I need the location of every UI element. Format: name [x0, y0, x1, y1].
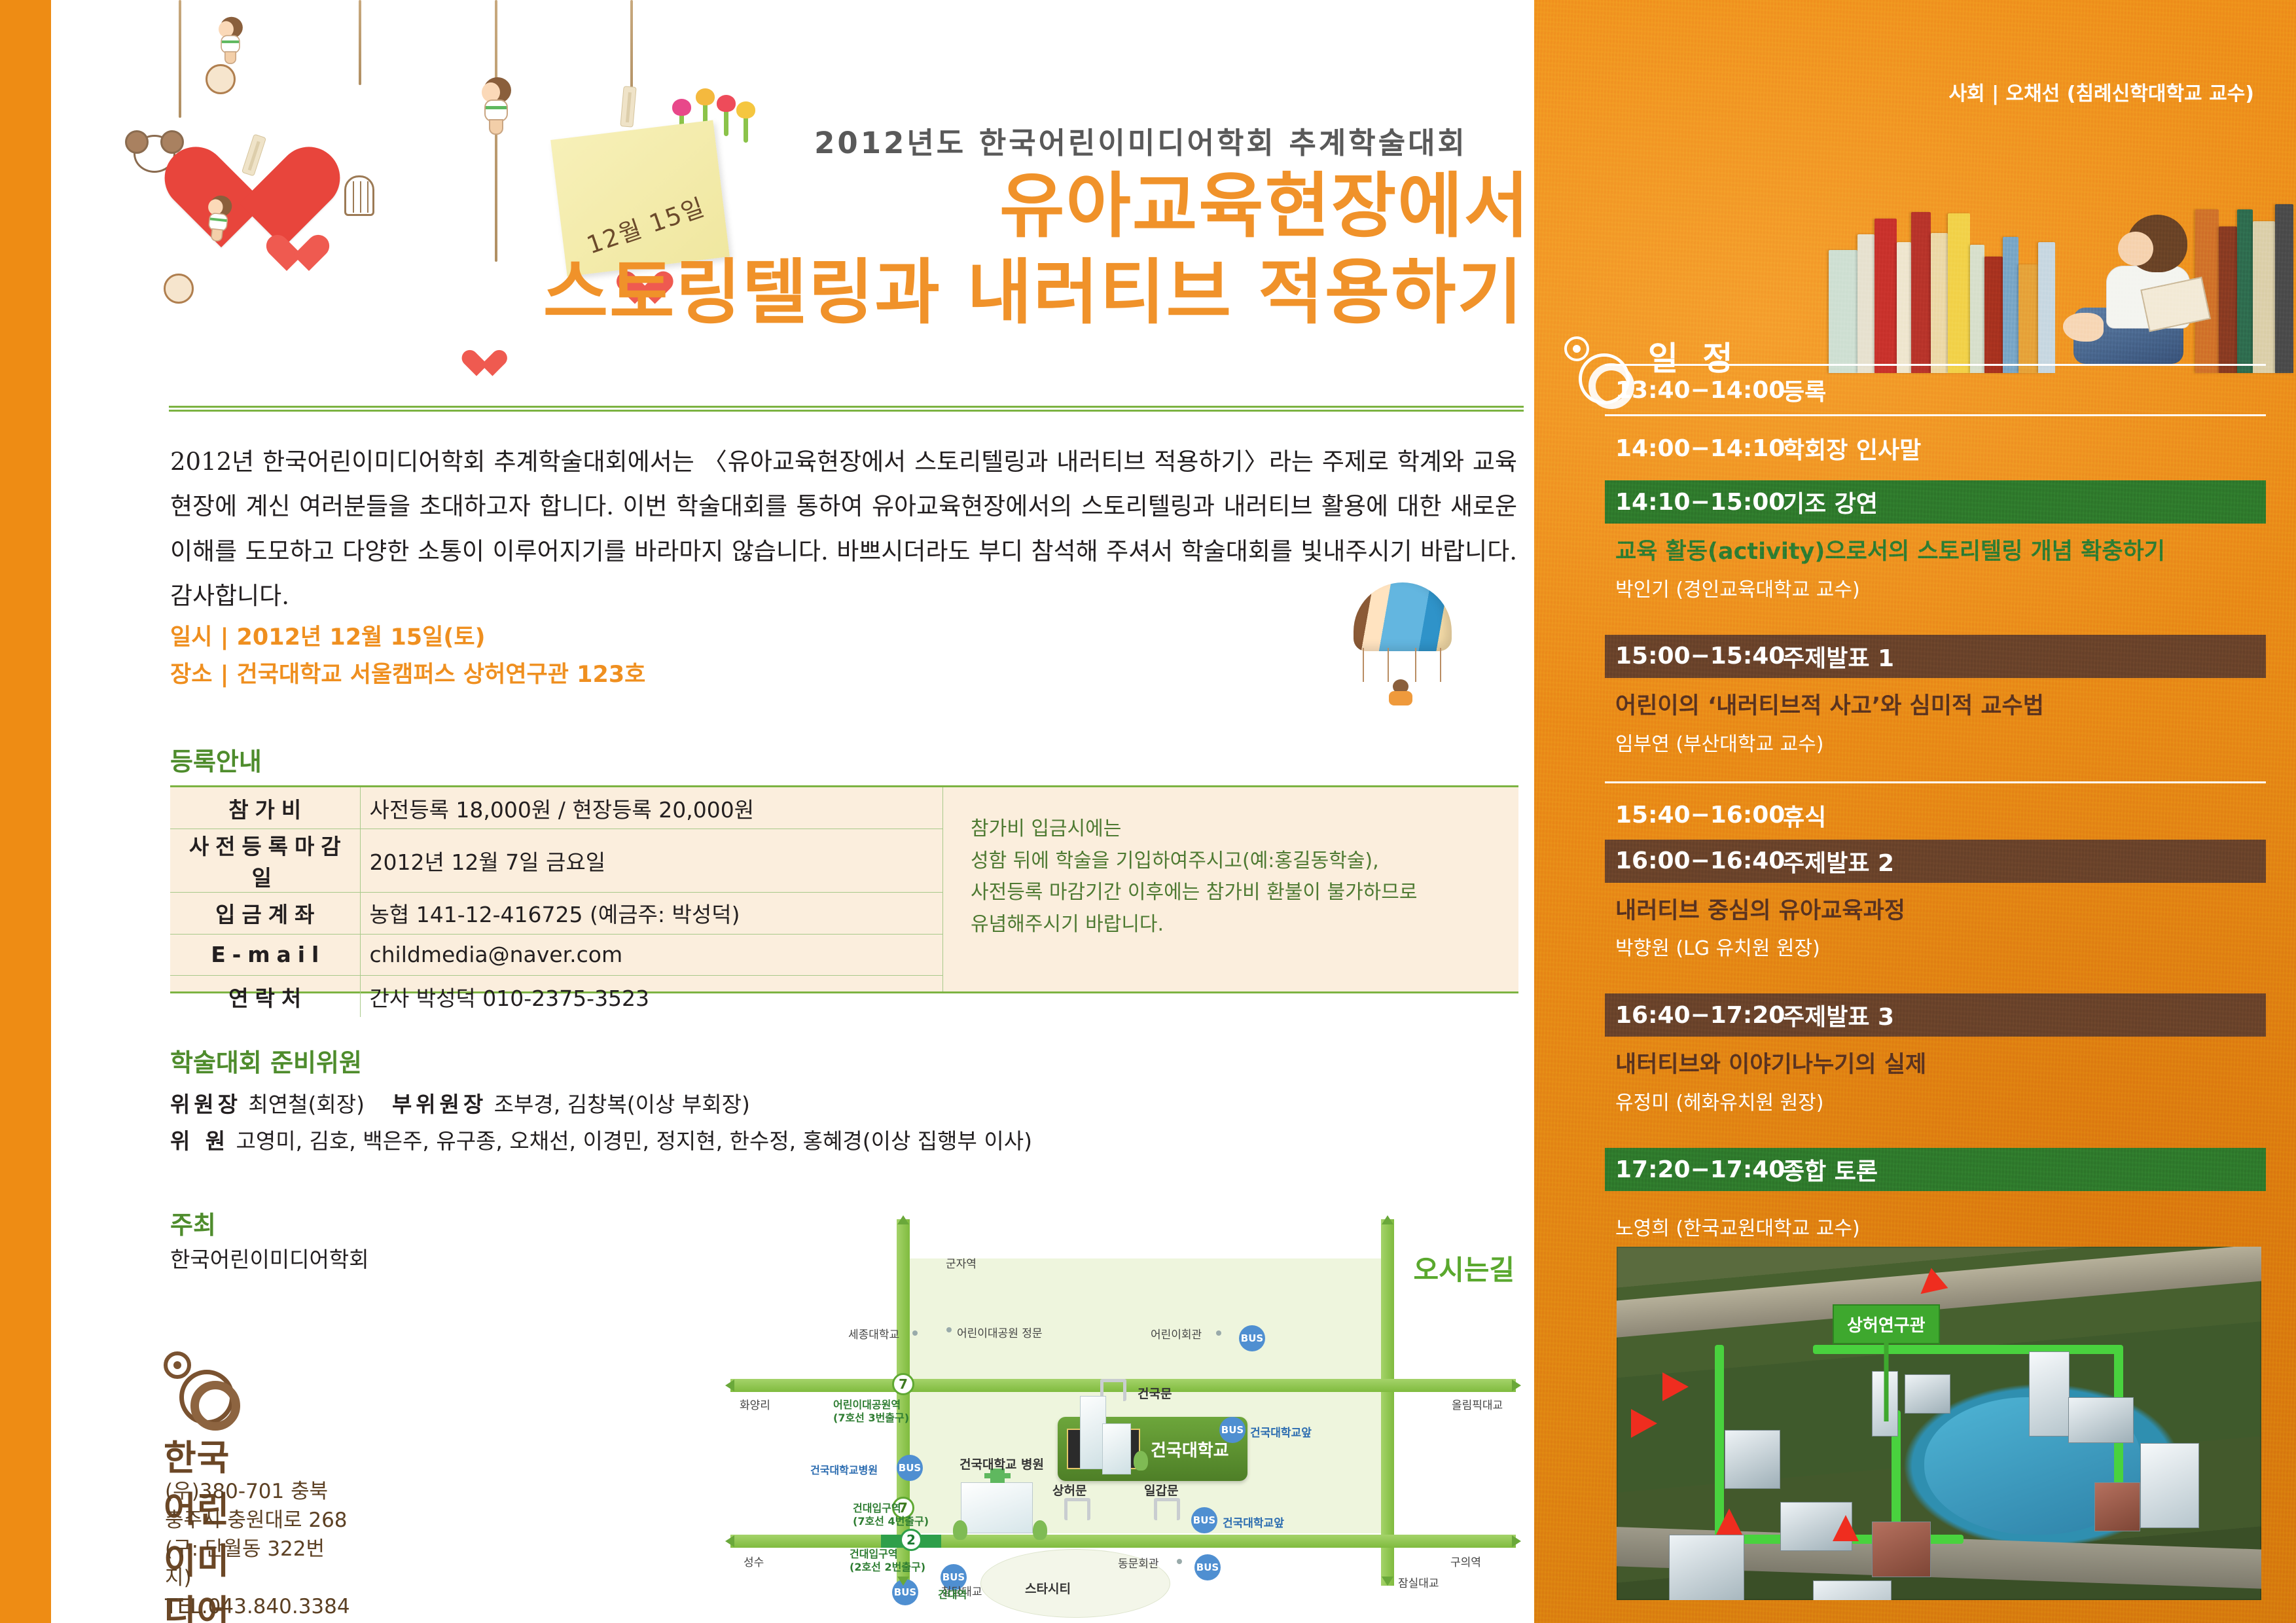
reg-val-fee: 사전등록 18,000원 / 현장등록 20,000원 — [360, 787, 942, 829]
road-arrow-left-top — [725, 1380, 734, 1391]
agenda-detail-speaker: 임부연 (부산대학교 교수) — [1615, 728, 2266, 757]
agenda-detail-title: 교육 활동(activity)으로서의 스토리텔링 개념 확충하기 — [1615, 538, 2266, 567]
agenda-name: 주제발표 3 — [1783, 998, 1894, 1032]
agenda-time: 14:00−14:10 — [1615, 435, 1783, 462]
map-label-kundae-station-7: 건대입구역 (7호선 4번출구) — [853, 1502, 929, 1528]
registration-heading: 등록안내 — [170, 741, 262, 777]
book-item — [1829, 250, 1857, 373]
map-label-ilgap-gate: 일갑문 — [1144, 1481, 1178, 1499]
map-label-kundae-station-2: 건대입구역 (2호선 2번출구) — [850, 1548, 925, 1574]
committee-chair-value: 최연철(회장) — [248, 1092, 365, 1117]
climbing-child-icon — [480, 77, 512, 134]
parachute-illustration — [1354, 582, 1452, 707]
agenda-detail-keynote: 교육 활동(activity)으로서의 스토리텔링 개념 확충하기 박인기 (경… — [1605, 524, 2266, 607]
directions-map: 오시는길 7 7 2 BUS BUS BUS BUS BUS BUS BUS — [719, 1207, 1530, 1600]
sangheo-gate-icon — [1064, 1498, 1090, 1520]
society-emblem-icon — [164, 1351, 242, 1423]
aerial-building-3 — [1725, 1430, 1780, 1489]
map-label-guui-station: 구의역 — [1450, 1553, 1481, 1569]
bus-marker-ku-front-bottom: BUS — [1191, 1507, 1217, 1533]
agenda-detail-speaker: 노영희 (한국교원대학교 교수) — [1615, 1212, 2266, 1241]
registration-table-wrapper: 참가비 사전등록 18,000원 / 현장등록 20,000원 사전등록마감일 … — [170, 785, 1518, 993]
main-title-line-2: 스토링텔링과 내러티브 적용하기 — [300, 250, 1530, 336]
map-dot-childpark-gate — [946, 1327, 952, 1332]
book-item — [1984, 257, 2003, 373]
agenda-row-session-2: 16:00−16:40 주제발표 2 — [1605, 840, 2266, 883]
society-tel: TEL.043.840.3384 — [165, 1592, 350, 1621]
book-item — [1874, 219, 1897, 373]
ornament-ball-2 — [206, 64, 236, 94]
map-label-sangheo-gate: 상허문 — [1052, 1481, 1086, 1499]
book-item — [2018, 264, 2038, 373]
road-horizontal-bottom — [730, 1535, 1516, 1548]
aerial-building-2 — [2029, 1351, 2070, 1436]
conference-subtitle: 2012년도 한국어린이미디어학회 추계학술대회 — [755, 119, 1527, 162]
host-heading: 주최 — [170, 1205, 216, 1241]
table-row: 사전등록마감일 2012년 12월 7일 금요일 — [170, 829, 942, 893]
left-accent-strip — [0, 0, 51, 1623]
agenda-emblem-icon — [1564, 336, 1638, 404]
committee-chair-row: 위원장 최연철(회장) 부위원장 조부경, 김창복(이상 부회장) — [170, 1086, 1414, 1123]
agenda-time: 16:00−16:40 — [1615, 847, 1783, 874]
book-item — [1970, 245, 1984, 373]
agenda-name: 종합 토론 — [1783, 1152, 1878, 1186]
map-label-childhall: 어린이회관 — [1151, 1325, 1202, 1342]
ornament-ball-1 — [164, 274, 194, 304]
bus-marker-childhall: BUS — [1239, 1325, 1265, 1351]
agenda-detail-speaker: 박향원 (LG 유치원 원장) — [1615, 932, 2266, 961]
map-label-starcity: 스타시티 — [1025, 1579, 1071, 1597]
aerial-direction-arrow-3 — [1716, 1508, 1742, 1535]
book-item — [2003, 237, 2018, 373]
ilgap-gate-icon — [1154, 1498, 1180, 1520]
reading-child-photo — [2067, 209, 2217, 373]
agenda-time: 15:00−15:40 — [1615, 643, 1783, 669]
aerial-direction-arrow-4 — [1833, 1515, 1859, 1541]
agenda-detail-session-1: 어린이의 ‘내러티브적 사고’와 심미적 교수법 임부연 (부산대학교 교수) — [1605, 678, 2266, 762]
agenda-detail-speaker: 박인기 (경인교육대학교 교수) — [1615, 573, 2266, 602]
reg-key-account: 입금계좌 — [170, 893, 360, 935]
map-dot-childhall — [1216, 1330, 1221, 1336]
bus-marker-hospital: BUS — [897, 1455, 923, 1481]
swinging-child-icon — [217, 17, 243, 63]
aerial-building-label: 상허연구관 — [1833, 1304, 1940, 1344]
aerial-building-4 — [1669, 1535, 1744, 1600]
agenda-row-session-1: 15:00−15:40 주제발표 1 — [1605, 635, 2266, 678]
map-label-hwayangri: 화양리 — [740, 1396, 770, 1412]
book-item — [2275, 204, 2293, 373]
book-item — [2253, 221, 2275, 373]
society-contact: (우)380-701 충북 충주시 충원대로 268 (구: 단월동 322번지… — [165, 1477, 350, 1621]
tree-icon-1 — [1134, 1451, 1148, 1471]
aerial-direction-arrow-2 — [1631, 1409, 1657, 1438]
map-dot-dongmun — [1177, 1559, 1182, 1564]
society-logo-block: 한국어린이미디어학회 (우)380-701 충북 충주시 충원대로 268 (구… — [164, 1351, 242, 1423]
aerial-building-10 — [2068, 1397, 2134, 1443]
book-item — [1948, 213, 1970, 373]
book-item — [1931, 233, 1948, 373]
road-arrow-up-right — [1382, 1215, 1393, 1224]
table-row: 입금계좌 농협 141-12-416725 (예금주: 박성덕) — [170, 893, 942, 935]
agenda-detail-title: 내러티브 중심의 유아교육과정 — [1615, 897, 2266, 926]
tree-icon-3 — [1033, 1520, 1047, 1540]
campus-building-2 — [1102, 1423, 1131, 1474]
map-label-bus-ku-front-bottom: 건국대학교앞 — [1223, 1514, 1284, 1530]
reg-key-deadline: 사전등록마감일 — [170, 829, 360, 893]
reg-key-fee: 참가비 — [170, 787, 360, 829]
road-arrow-left-bottom — [725, 1535, 734, 1547]
agenda-detail-speaker: 유정미 (헤화유치원 원장) — [1615, 1086, 2266, 1115]
book-item — [2038, 242, 2055, 373]
society-address: (우)380-701 충북 충주시 충원대로 268 (구: 단월동 322번지… — [165, 1477, 350, 1592]
table-row: 연락처 간사 박성덕 010-2375-3523 — [170, 976, 942, 1018]
intro-paragraph: 2012년 한국어린이미디어학회 추계학술대회에서는 〈유아교육현장에서 스토리… — [170, 440, 1517, 619]
reg-val-deadline: 2012년 12월 7일 금요일 — [360, 829, 942, 893]
tree-icon-2 — [953, 1520, 967, 1540]
map-label-bus-ku-front-top: 건국대학교앞 — [1250, 1423, 1312, 1440]
map-label-ku-gate: 건국문 — [1138, 1384, 1172, 1402]
agenda-name: 휴식 — [1783, 798, 1826, 832]
aerial-building-9 — [2094, 1482, 2140, 1531]
agenda-row-keynote: 14:10−15:00 기조 강연 — [1605, 480, 2266, 524]
map-label-kundae-station: 건대역 — [938, 1586, 967, 1601]
agenda-title: 일 정 — [1648, 332, 1739, 380]
road-arrow-right-bottom — [1512, 1535, 1521, 1547]
committee-vice-label: 부위원장 — [392, 1092, 487, 1117]
map-label-jamsil-bridge: 잠실대교 — [1398, 1574, 1439, 1590]
hospital-building-icon — [961, 1482, 1033, 1533]
book-item — [2219, 226, 2237, 373]
committee-members-row: 위 원 고영미, 김호, 백은주, 유구종, 오채선, 이경민, 정지현, 한수… — [170, 1123, 1414, 1160]
heart-small-icon-2 — [462, 351, 490, 377]
reg-val-account: 농협 141-12-416725 (예금주: 박성덕) — [360, 893, 942, 935]
reg-key-email: E-mail — [170, 934, 360, 976]
map-label-dongmun-hall: 동문회관 — [1118, 1554, 1159, 1571]
book-item — [1857, 234, 1874, 373]
agenda-detail-title: 어린이의 ‘내러티브적 사고’와 심미적 교수법 — [1615, 692, 2266, 721]
agenda-name: 주제발표 2 — [1783, 844, 1894, 878]
committee-members-label: 위 원 — [170, 1128, 229, 1154]
map-label-childpark-gate: 어린이대공원 정문 — [957, 1324, 1043, 1340]
table-row: E-mail childmedia@naver.com — [170, 934, 942, 976]
agenda-time: 15:40−16:00 — [1615, 802, 1783, 829]
subway-line7-marker-top: 7 — [892, 1373, 914, 1395]
agenda-detail-session-2: 내러티브 중심의 유아교육과정 박향원 (LG 유치원 원장) — [1605, 883, 2266, 967]
agenda-name: 등록 — [1783, 373, 1826, 407]
ku-university-name: 건국대학교 — [1151, 1437, 1229, 1461]
agenda-block: 일 정 13:40−14:00 등록 14:00−14:10 학회장 인사말 1… — [1605, 364, 2266, 1246]
registration-note: 참가비 입금시에는 성함 뒤에 학술을 기입하여주시고(예:홍길동학술), 사전… — [942, 787, 1518, 991]
map-label-ku-hospital-bus: 건국대학교병원 — [810, 1461, 878, 1477]
agenda-detail-discussion: 노영희 (한국교원대학교 교수) — [1605, 1191, 2266, 1246]
agenda-detail-session-3: 내터티브와 이야기나누기의 실제 유정미 (헤화유치원 원장) — [1605, 1037, 2266, 1120]
conference-datetime: 일시 | 2012년 12월 15일(토) — [170, 619, 1152, 656]
registration-note-line-2: 성함 뒤에 학술을 기입하여주시고(예:홍길동학술), — [971, 846, 1518, 878]
committee-chair-label: 위원장 — [170, 1092, 242, 1117]
reg-val-email[interactable]: childmedia@naver.com — [360, 934, 942, 976]
committee-block: 위원장 최연철(회장) 부위원장 조부경, 김창복(이상 부회장) 위 원 고영… — [170, 1086, 1414, 1160]
registration-note-line-1: 참가비 입금시에는 — [971, 813, 1518, 846]
book-item — [2237, 209, 2253, 373]
map-title: 오시는길 — [1413, 1248, 1515, 1288]
bus-marker-dongmun: BUS — [1194, 1554, 1221, 1580]
host-name: 한국어린이미디어학회 — [170, 1242, 369, 1274]
campus-aerial-photo: 상허연구관 — [1617, 1247, 2261, 1600]
committee-members-value: 고영미, 김호, 백은주, 유구종, 오채선, 이경민, 정지현, 한수정, 홍… — [236, 1128, 1032, 1154]
aerial-building-11 — [1905, 1374, 1950, 1414]
table-row: 참가비 사전등록 18,000원 / 현장등록 20,000원 — [170, 787, 942, 829]
agenda-name: 주제발표 1 — [1783, 639, 1894, 673]
agenda-name: 기조 강연 — [1783, 485, 1878, 519]
map-dot-sejong — [912, 1330, 918, 1336]
aerial-direction-arrow-1 — [1662, 1372, 1689, 1401]
map-label-childpark-station: 어린이대공원역 (7호선 3번출구) — [833, 1399, 909, 1425]
registration-note-line-4: 유념해주시기 바랍니다. — [971, 909, 1518, 941]
book-item — [1911, 212, 1931, 373]
conference-venue: 장소 | 건국대학교 서울캠퍼스 상허연구관 123호 — [170, 656, 1152, 694]
aerial-building-8 — [2140, 1443, 2199, 1528]
reg-val-contact: 간사 박성덕 010-2375-3523 — [360, 976, 942, 1018]
aerial-building-7 — [1813, 1580, 1892, 1600]
main-title-line-1: 유아교육현장에서 — [300, 164, 1530, 250]
map-label-sejong-univ: 세종대학교 — [848, 1325, 899, 1342]
road-vertical-right — [1381, 1219, 1394, 1586]
clothespin-icon-2 — [620, 86, 636, 128]
road-arrow-down-left — [897, 1577, 909, 1586]
agenda-time: 14:10−15:00 — [1615, 489, 1783, 516]
flower-icon-3 — [724, 109, 728, 136]
committee-heading: 학술대회 준비위원 — [170, 1043, 362, 1079]
registration-note-line-3: 사전등록 마감기간 이후에는 참가비 환불이 불가하므로 — [971, 877, 1518, 909]
agenda-row-break: 15:40−16:00 휴식 — [1605, 791, 2266, 840]
agenda-row-greeting: 14:00−14:10 학회장 인사말 — [1605, 424, 2266, 473]
green-divider-rule — [169, 406, 1524, 412]
agenda-time: 13:40−14:00 — [1615, 377, 1783, 404]
agenda-detail-title: 내터티브와 이야기나누기의 실제 — [1615, 1051, 2266, 1080]
gingerbread-figure-icon — [241, 275, 268, 310]
aerial-building-6 — [1872, 1522, 1931, 1577]
map-label-seongsu: 성수 — [744, 1553, 764, 1569]
left-panel: 12월 15일 2012년도 한국어린이미디어학회 추계학술대회 유아교육현장에… — [51, 0, 1534, 1623]
map-label-ku-hospital: 건국대학교 병원 — [960, 1455, 1044, 1472]
agenda-time: 16:40−17:20 — [1615, 1002, 1783, 1029]
registration-table: 참가비 사전등록 18,000원 / 현장등록 20,000원 사전등록마감일 … — [170, 787, 942, 1017]
books-collage — [1829, 98, 2296, 373]
road-arrow-right-top — [1512, 1380, 1521, 1391]
datetime-venue-block: 일시 | 2012년 12월 15일(토) 장소 | 건국대학교 서울캠퍼스 상… — [170, 619, 1152, 693]
agenda-time: 17:20−17:40 — [1615, 1156, 1783, 1183]
book-item — [1897, 242, 1911, 373]
aerial-path-3 — [1813, 1345, 2121, 1354]
sitting-child-icon — [204, 194, 233, 241]
map-label-gunja-station: 군자역 — [946, 1255, 977, 1271]
agenda-name: 학회장 인사말 — [1783, 431, 1921, 465]
conference-main-title: 유아교육현장에서 스토링텔링과 내러티브 적용하기 — [300, 164, 1530, 336]
road-arrow-up-left — [897, 1215, 909, 1224]
road-arrow-down-right — [1382, 1577, 1393, 1586]
agenda-row-discussion: 17:20−17:40 종합 토론 — [1605, 1148, 2266, 1191]
map-label-olympic-bridge: 올림픽대교 — [1452, 1396, 1503, 1412]
committee-vice-value: 조부경, 김창복(이상 부회장) — [494, 1092, 750, 1117]
hanging-string-2 — [359, 0, 361, 85]
reg-key-contact: 연락처 — [170, 976, 360, 1018]
flower-icon-4 — [744, 115, 748, 143]
hanging-string-1 — [179, 0, 181, 118]
bus-marker-ku-front-top: BUS — [1219, 1417, 1246, 1443]
agenda-row-session-3: 16:40−17:20 주제발표 3 — [1605, 993, 2266, 1037]
